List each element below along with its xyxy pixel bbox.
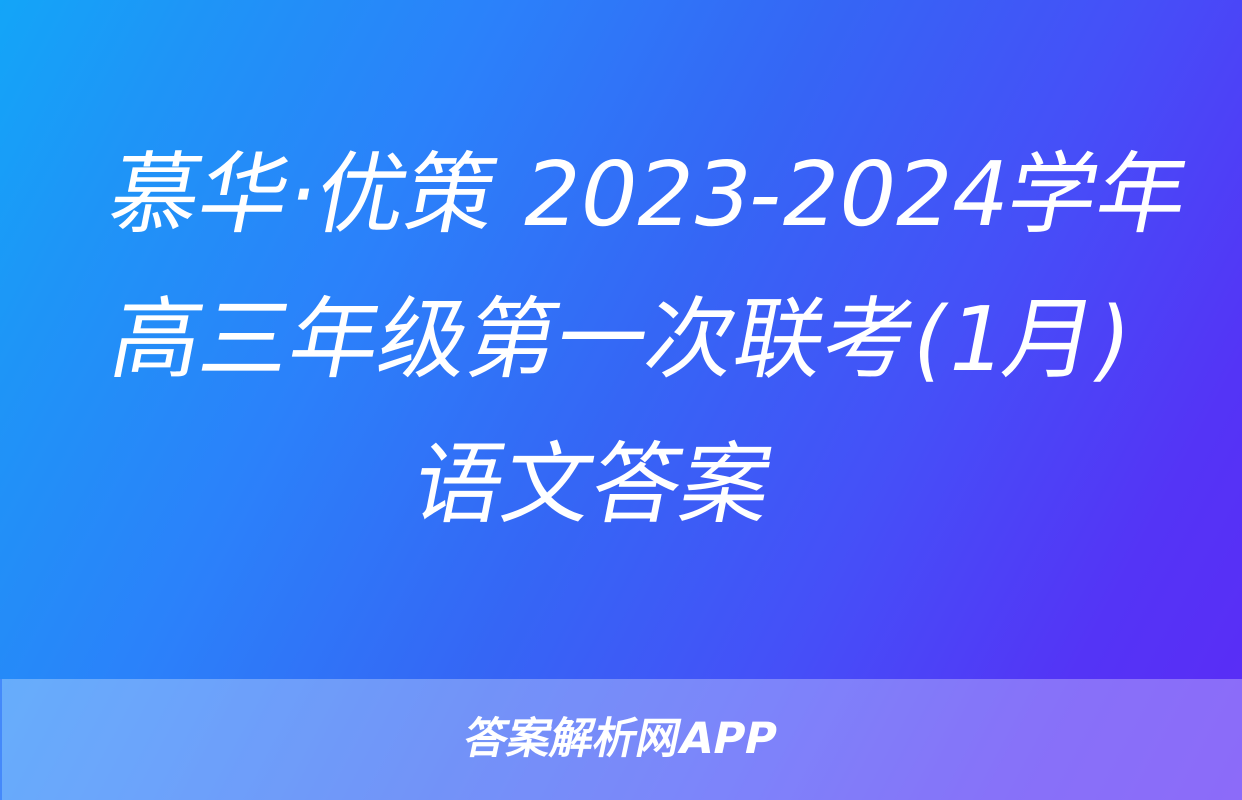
- watermark-band: 答案解析网APP: [0, 679, 1242, 800]
- title-area: 慕华·优策 2023-2024学年高三年级第一次联考(1月)语文答案: [0, 0, 1242, 679]
- page-title: 慕华·优策 2023-2024学年高三年级第一次联考(1月)语文答案: [34, 122, 1209, 557]
- app-watermark-label: 答案解析网APP: [461, 718, 781, 761]
- poster-canvas: 慕华·优策 2023-2024学年高三年级第一次联考(1月)语文答案 答案解析网…: [0, 0, 1242, 800]
